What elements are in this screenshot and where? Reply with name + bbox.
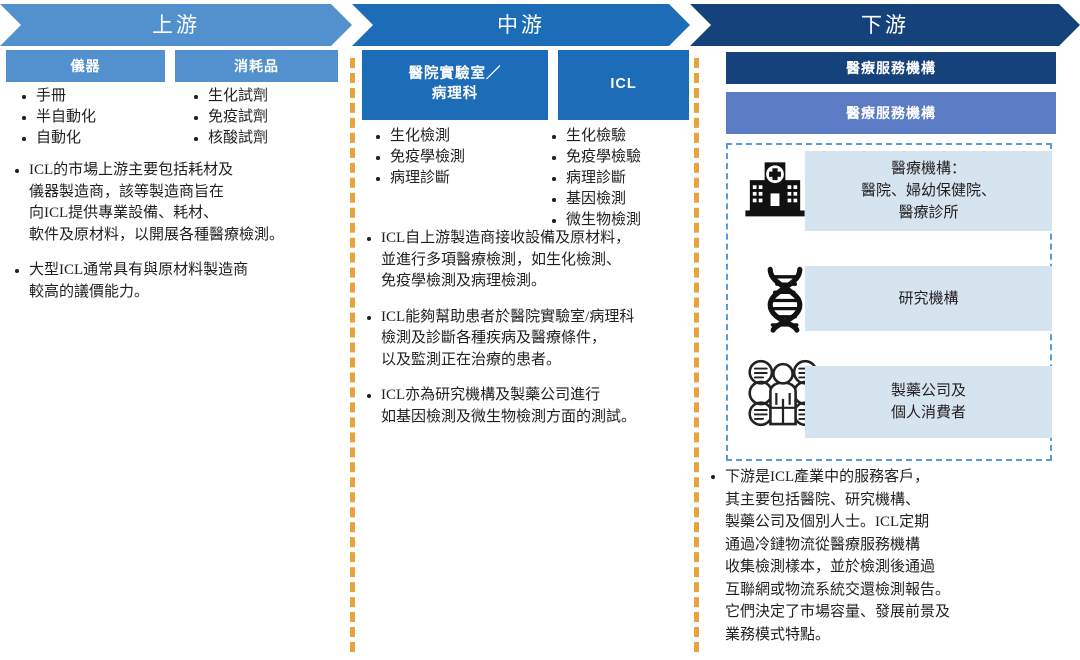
- upstream-description: ICL的市場上游主要包括耗材及 儀器製造商，該等製造商旨在 向ICL提供專業設備…: [10, 160, 284, 317]
- upstream-box-consumables[interactable]: 消耗品: [175, 50, 338, 82]
- midstream-box-icl[interactable]: ICL: [558, 50, 689, 120]
- list-item: 病理診斷: [548, 168, 641, 188]
- stage-header-midstream-label: 中游: [497, 9, 545, 39]
- list-item: 基因檢測: [548, 189, 641, 209]
- downstream-banner-dark-label: 醫療服務機構: [846, 59, 936, 78]
- stage-header-midstream[interactable]: 中游: [352, 4, 690, 46]
- upstream-box-instruments-label: 儀器: [71, 57, 101, 76]
- list-item: 生化檢測: [372, 126, 465, 146]
- downstream-banner-light-label: 醫療服務機構: [846, 104, 936, 123]
- midstream-box-hospital-lab-label-line2: 病理科: [409, 85, 502, 105]
- list-item: 手冊: [18, 86, 96, 106]
- paragraph-bullet: ICL能夠幫助患者於醫院實驗室/病理科 檢測及診斷各種疾病及醫療條件， 以及監測…: [362, 307, 636, 372]
- list-item: 半自動化: [18, 107, 96, 127]
- downstream-description: 下游是ICL產業中的服務客戶， 其主要包括醫院、研究機構、 製藥公司及個別人士。…: [706, 466, 950, 660]
- upstream-box-instruments[interactable]: 儀器: [6, 50, 165, 82]
- list-item: 病理診斷: [372, 168, 465, 188]
- paragraph-bullet: ICL自上游製造商接收設備及原材料， 並進行多項醫療檢測，如生化檢測、 免疫學檢…: [362, 228, 636, 293]
- midstream-box-icl-label: ICL: [610, 75, 636, 95]
- list-item: 自動化: [18, 128, 96, 148]
- stage-header-upstream-label: 上游: [152, 9, 200, 39]
- stage-header-downstream-label: 下游: [861, 9, 909, 39]
- list-item: 生化檢驗: [548, 126, 641, 146]
- list-item: 核酸試劑: [190, 128, 268, 148]
- midstream-box-hospital-lab[interactable]: 醫院實驗室／ 病理科: [362, 50, 548, 120]
- paragraph-bullet: ICL的市場上游主要包括耗材及 儀器製造商，該等製造商旨在 向ICL提供專業設備…: [10, 160, 284, 246]
- stage-header-bar: 上游 中游 下游: [0, 4, 1080, 46]
- upstream-box-consumables-label: 消耗品: [234, 57, 279, 76]
- downstream-banner-dark[interactable]: 醫療服務機構: [726, 52, 1056, 84]
- upstream-instruments-list: 手冊 半自動化 自動化: [18, 86, 96, 149]
- midstream-icl-list: 生化檢驗 免疫學檢驗 病理診斷 基因檢測 微生物檢測: [548, 126, 641, 231]
- column-divider-upstream-midstream: [350, 58, 355, 652]
- paragraph-bullet: 大型ICL通常具有與原材料製造商 較高的議價能力。: [10, 260, 284, 303]
- list-item: 微生物檢測: [548, 210, 641, 230]
- list-item: 免疫學檢測: [372, 147, 465, 167]
- stage-header-upstream[interactable]: 上游: [0, 4, 352, 46]
- list-item: 免疫學檢驗: [548, 147, 641, 167]
- list-item: 免疫試劑: [190, 107, 268, 127]
- downstream-label-pharma-consumers: 製藥公司及 個人消費者: [805, 366, 1052, 438]
- upstream-consumables-list: 生化試劑 免疫試劑 核酸試劑: [190, 86, 268, 149]
- downstream-label-research-institutions: 研究機構: [805, 266, 1052, 331]
- stage-header-downstream[interactable]: 下游: [690, 4, 1080, 46]
- list-item: 生化試劑: [190, 86, 268, 106]
- downstream-banner-light[interactable]: 醫療服務機構: [726, 92, 1056, 134]
- midstream-hospital-lab-list: 生化檢測 免疫學檢測 病理診斷: [372, 126, 465, 189]
- midstream-description: ICL自上游製造商接收設備及原材料， 並進行多項醫療檢測，如生化檢測、 免疫學檢…: [362, 228, 636, 442]
- downstream-label-medical-institutions: 醫療機構： 醫院、婦幼保健院、 醫療診所: [805, 151, 1052, 231]
- column-divider-midstream-downstream: [694, 58, 699, 652]
- paragraph-bullet: ICL亦為研究機構及製藥公司進行 如基因檢測及微生物檢測方面的測試。: [362, 385, 636, 428]
- midstream-box-hospital-lab-label-line1: 醫院實驗室／: [409, 65, 502, 85]
- hospital-icon: [738, 152, 812, 226]
- paragraph-bullet: 下游是ICL產業中的服務客戶， 其主要包括醫院、研究機構、 製藥公司及個別人士。…: [706, 466, 950, 646]
